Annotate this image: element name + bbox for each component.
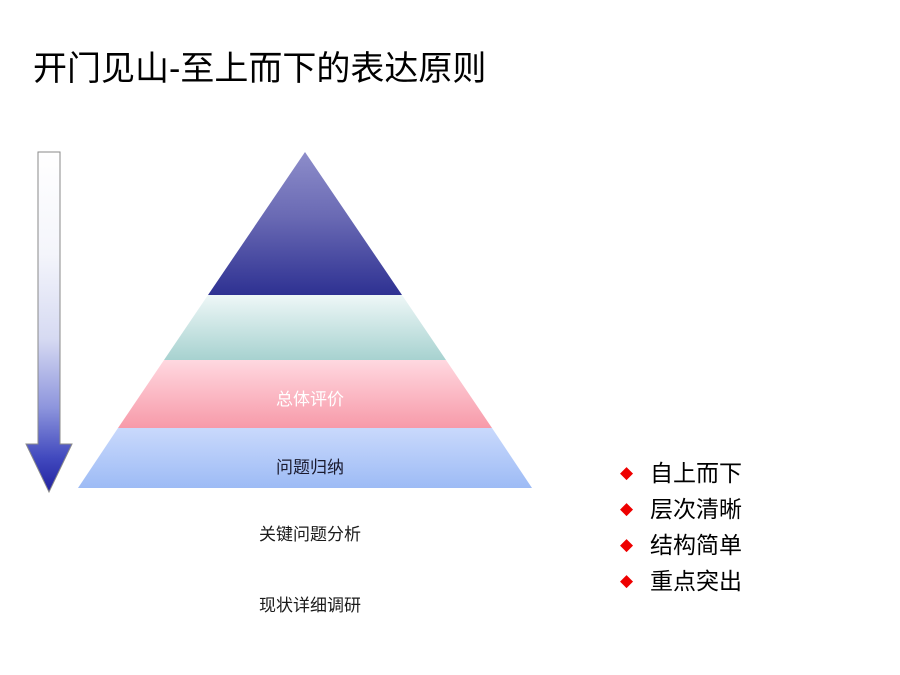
list-item-label: 层次清晰 (650, 491, 742, 527)
list-item-label: 重点突出 (650, 563, 742, 599)
page-title: 开门见山-至上而下的表达原则 (33, 48, 486, 90)
list-item-label: 自上而下 (650, 455, 742, 491)
list-item: ◆ 重点突出 (620, 563, 860, 599)
pyramid-level-3-shape[interactable] (118, 360, 492, 428)
list-item-label: 结构简单 (650, 527, 742, 563)
pyramid-level-1-shape[interactable] (208, 152, 402, 295)
pyramid-level-4-shape[interactable] (78, 428, 532, 488)
diamond-bullet-icon: ◆ (620, 563, 650, 599)
list-item: ◆ 自上而下 (620, 455, 860, 491)
list-item: ◆ 结构简单 (620, 527, 860, 563)
slide-canvas: 开门见山-至上而下的表达原则 (0, 0, 900, 675)
pyramid-level-4-label: 现状详细调研 (60, 596, 560, 616)
list-item: ◆ 层次清晰 (620, 491, 860, 527)
diamond-bullet-icon: ◆ (620, 455, 650, 491)
pyramid-level-3-label: 关键问题分析 (60, 525, 560, 545)
pyramid-diagram: 总体评价 问题归纳 关键问题分析 现状详细调研 (60, 140, 560, 500)
pyramid-level-2-shape[interactable] (164, 295, 446, 360)
benefits-bullet-list: ◆ 自上而下 ◆ 层次清晰 ◆ 结构简单 ◆ 重点突出 (620, 455, 860, 599)
diamond-bullet-icon: ◆ (620, 527, 650, 563)
diamond-bullet-icon: ◆ (620, 491, 650, 527)
